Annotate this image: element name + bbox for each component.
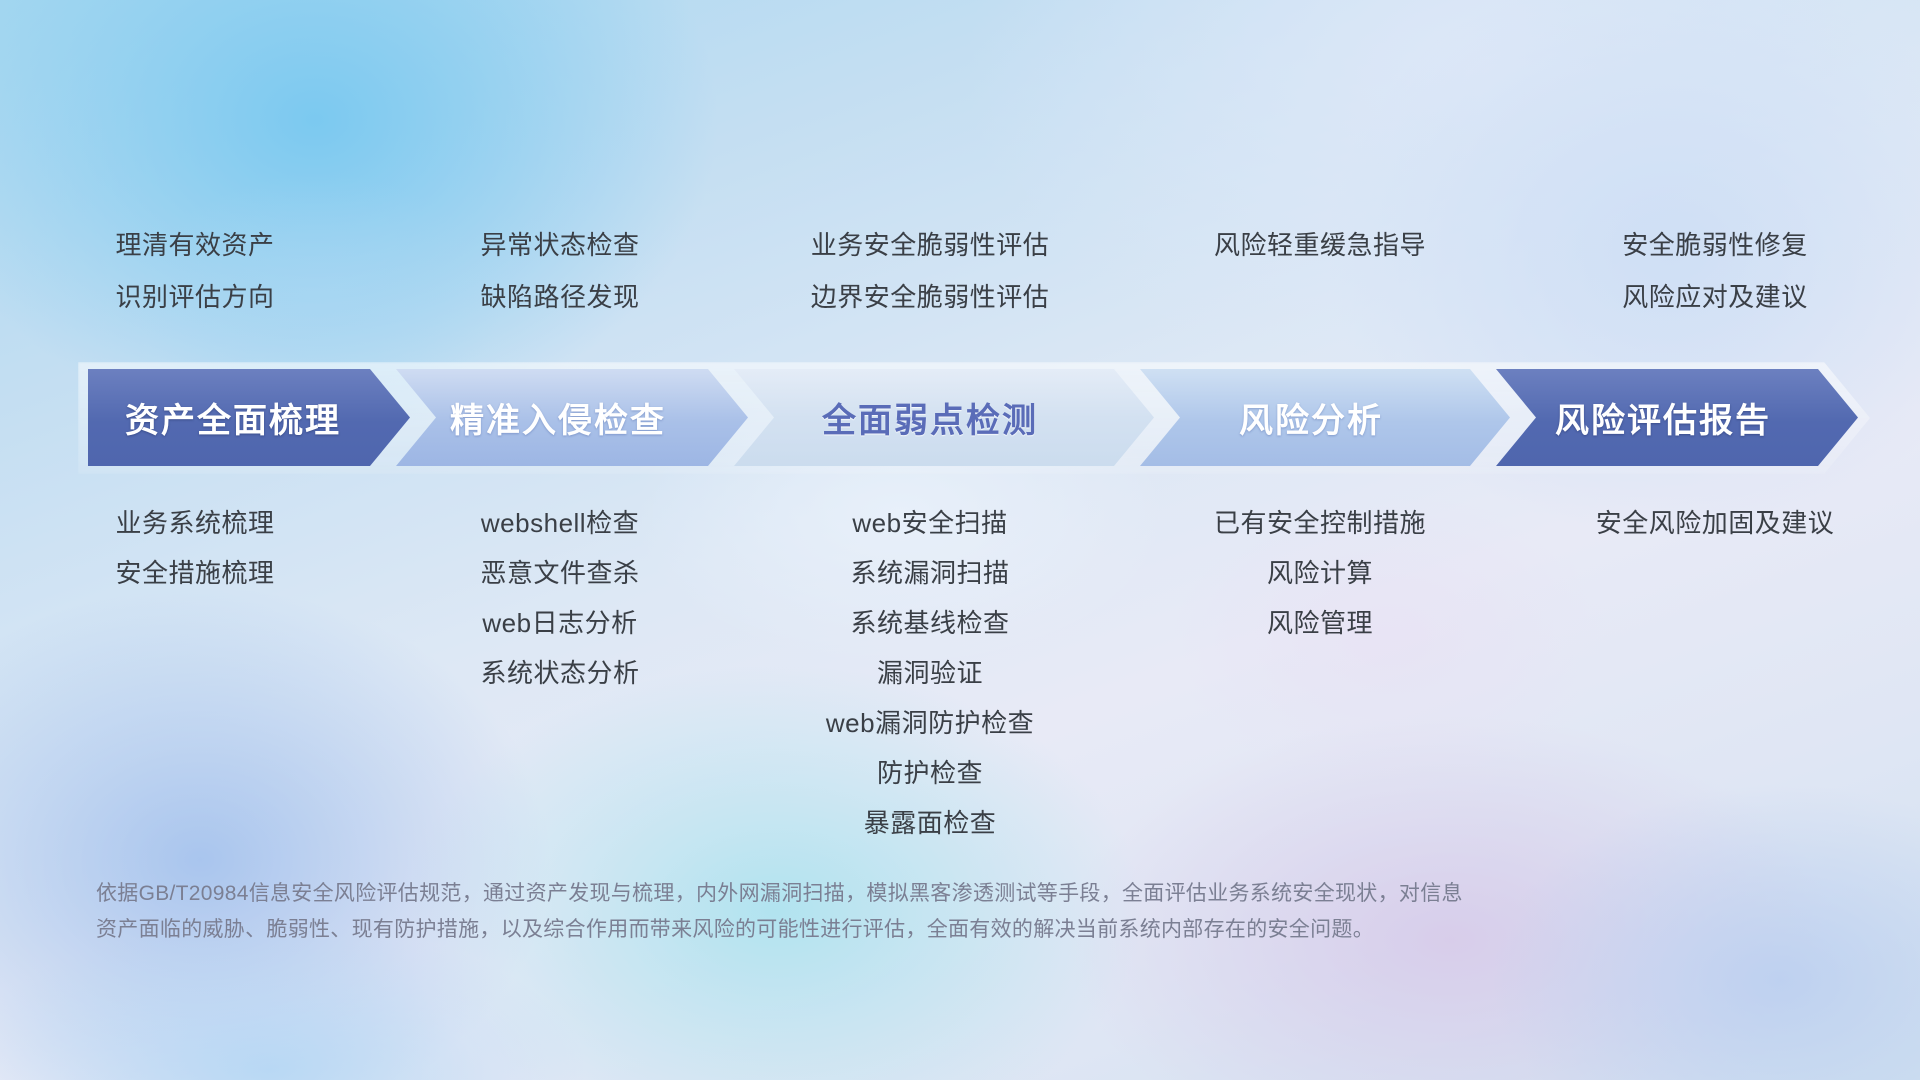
bottom-notes-risk-analysis: 已有安全控制措施 风险计算 风险管理	[1130, 510, 1510, 636]
note-item: 安全脆弱性修复	[1622, 232, 1808, 258]
top-notes-asset-inventory: 理清有效资产 识别评估方向	[0, 232, 390, 336]
note-item: webshell检查	[481, 510, 639, 536]
note-item: 系统状态分析	[480, 660, 639, 686]
note-item: 风险应对及建议	[1622, 284, 1808, 310]
footer-line-1: 依据GB/T20984信息安全风险评估规范，通过资产发现与梳理，内外网漏洞扫描，…	[96, 876, 1616, 912]
note-item: 识别评估方向	[115, 284, 274, 310]
stage-label: 资产全面梳理	[125, 393, 341, 442]
stage-label: 全面弱点检测	[822, 393, 1038, 442]
bottom-notes-asset-inventory: 业务系统梳理 安全措施梳理	[0, 510, 390, 586]
note-item: web日志分析	[482, 610, 637, 636]
note-item: 边界安全脆弱性评估	[811, 284, 1050, 310]
stage-label: 风险分析	[1239, 393, 1383, 442]
note-item: 风险管理	[1267, 610, 1373, 636]
note-item: 风险计算	[1267, 560, 1373, 586]
note-item: web漏洞防护检查	[826, 710, 1034, 736]
note-item: 已有安全控制措施	[1214, 510, 1426, 536]
note-item: 缺陷路径发现	[480, 284, 639, 310]
stage-chevron-intrusion-check[interactable]: 精准入侵检查	[396, 369, 748, 466]
stage-chevron-asset-inventory[interactable]: 资产全面梳理	[88, 369, 410, 466]
footer-description: 依据GB/T20984信息安全风险评估规范，通过资产发现与梳理，内外网漏洞扫描，…	[96, 876, 1616, 948]
note-item: 安全风险加固及建议	[1596, 510, 1835, 536]
note-item: 安全措施梳理	[115, 560, 274, 586]
note-item: 业务系统梳理	[115, 510, 274, 536]
note-item: 恶意文件查杀	[480, 560, 639, 586]
stage-chevron-weakness-detection[interactable]: 全面弱点检测	[734, 369, 1154, 466]
stage-label: 精准入侵检查	[450, 393, 666, 442]
bottom-notes-intrusion-check: webshell检查 恶意文件查杀 web日志分析 系统状态分析	[390, 510, 730, 686]
process-diagram: 理清有效资产 识别评估方向 异常状态检查 缺陷路径发现 业务安全脆弱性评估 边界…	[0, 0, 1920, 1080]
stage-chevron-risk-analysis[interactable]: 风险分析	[1140, 369, 1510, 466]
top-notes-row: 理清有效资产 识别评估方向 异常状态检查 缺陷路径发现 业务安全脆弱性评估 边界…	[0, 232, 1920, 336]
top-notes-risk-analysis: 风险轻重缓急指导	[1130, 232, 1510, 336]
bottom-notes-risk-report: 安全风险加固及建议	[1510, 510, 1920, 536]
bottom-notes-row: 业务系统梳理 安全措施梳理 webshell检查 恶意文件查杀 web日志分析 …	[0, 510, 1920, 836]
stage-chevron-risk-report[interactable]: 风险评估报告	[1496, 369, 1858, 466]
top-notes-weakness-detection: 业务安全脆弱性评估 边界安全脆弱性评估	[730, 232, 1130, 336]
note-item: 漏洞验证	[877, 660, 983, 686]
note-item: 系统基线检查	[850, 610, 1009, 636]
chevron-band: 资产全面梳理 精准入侵检查 全面弱点检测 风险分析 风险评估报告	[88, 369, 1858, 466]
note-item: 系统漏洞扫描	[850, 560, 1009, 586]
stage-label: 风险评估报告	[1555, 393, 1771, 442]
note-item: 异常状态检查	[480, 232, 639, 258]
top-notes-risk-report: 安全脆弱性修复 风险应对及建议	[1510, 232, 1920, 336]
top-notes-intrusion-check: 异常状态检查 缺陷路径发现	[390, 232, 730, 336]
footer-line-2: 资产面临的威胁、脆弱性、现有防护措施，以及综合作用而带来风险的可能性进行评估，全…	[96, 912, 1616, 948]
note-item: 业务安全脆弱性评估	[811, 232, 1050, 258]
note-item: 理清有效资产	[115, 232, 274, 258]
note-item: 防护检查	[877, 760, 983, 786]
note-item: 暴露面检查	[864, 810, 997, 836]
bottom-notes-weakness-detection: web安全扫描 系统漏洞扫描 系统基线检查 漏洞验证 web漏洞防护检查 防护检…	[730, 510, 1130, 836]
note-item: web安全扫描	[852, 510, 1007, 536]
note-item: 风险轻重缓急指导	[1214, 232, 1426, 258]
